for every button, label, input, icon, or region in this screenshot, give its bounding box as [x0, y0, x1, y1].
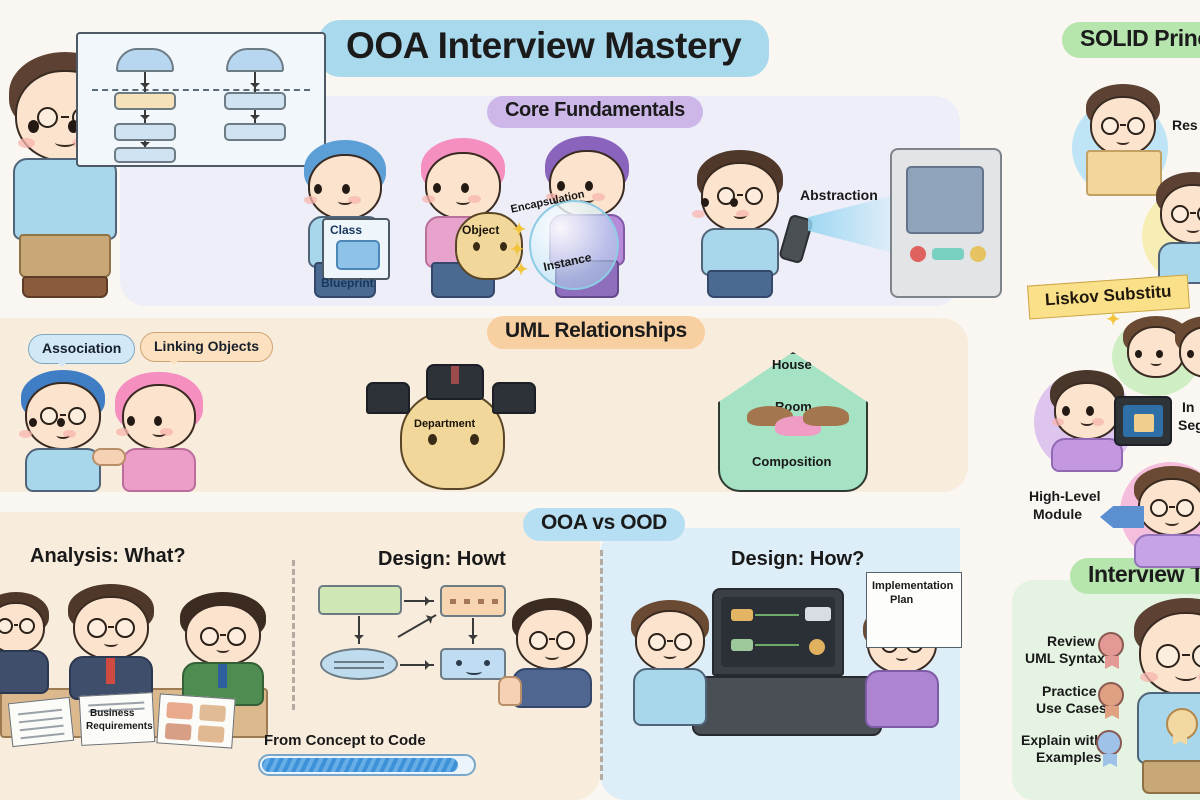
ribbon-badge-icon: [1098, 632, 1124, 658]
mouth: [55, 138, 75, 147]
eye: [57, 418, 65, 427]
eye: [500, 242, 507, 251]
eye: [428, 434, 437, 445]
glasses-icon: [61, 116, 69, 118]
flow-arrow: [400, 664, 434, 666]
diagram-node: [226, 48, 284, 72]
implementation-plan-line1: Implementation: [872, 580, 953, 592]
eye: [1187, 350, 1194, 358]
eye: [470, 434, 479, 445]
glasses-icon: [220, 634, 226, 636]
liskov-character-2: [1170, 316, 1200, 386]
linking-objects-bubble: Linking Objects: [140, 332, 273, 362]
cheek: [1092, 418, 1104, 426]
business-requirements-line2: Requirements: [86, 721, 153, 732]
glasses-icon: [1190, 212, 1196, 214]
eye: [314, 184, 322, 194]
flow-node-process: [318, 585, 402, 615]
eye: [29, 418, 37, 427]
doc-line: [20, 725, 64, 732]
progress-fill: [262, 758, 458, 772]
cheek: [1140, 672, 1158, 682]
chest-award-badge-icon: [1166, 708, 1198, 740]
eye: [127, 416, 135, 426]
cheek: [692, 210, 705, 218]
section-divider: [292, 560, 295, 710]
tip-3-line2: Examples: [1036, 750, 1101, 766]
house-child-head: [806, 414, 846, 452]
business-requirements-line1: Business: [90, 708, 134, 719]
shirt: [122, 448, 196, 492]
single-responsibility-label: Res: [1172, 118, 1198, 134]
eye: [730, 198, 738, 207]
shoes: [22, 276, 108, 298]
eye: [1156, 350, 1163, 358]
department-label: Department: [414, 418, 475, 430]
abstraction-label: Abstraction: [800, 188, 878, 204]
tip-2-line2: Use Cases: [1036, 701, 1107, 717]
ribbon-badge-icon: [1098, 682, 1124, 708]
doc-line: [20, 733, 64, 740]
interface-segregation-line1: In: [1182, 400, 1194, 416]
mouth: [338, 198, 352, 205]
association-character-left: [8, 370, 118, 500]
cheek: [422, 195, 435, 203]
glasses-icon: [108, 626, 114, 628]
class-label: Class: [330, 224, 362, 237]
tip-3-line1: Explain with: [1021, 733, 1103, 749]
ooa-vs-ood-title: OOA vs OOD: [523, 508, 685, 541]
page-title: OOA Interview Mastery: [318, 20, 769, 77]
eye: [557, 181, 565, 191]
design-howt-heading: Design: Howt: [378, 548, 506, 570]
shirt: [1051, 438, 1123, 472]
object-label: Object: [462, 224, 499, 237]
flow-arrow: [358, 616, 360, 644]
glasses-icon: [737, 194, 743, 196]
glasses-icon: [1182, 654, 1190, 656]
tip-1-line1: Review: [1047, 634, 1095, 650]
cheek: [1052, 418, 1064, 426]
association-character-right: [104, 372, 214, 502]
shirt: [13, 158, 117, 240]
mouth: [896, 654, 908, 661]
diagram-connector: [254, 72, 256, 92]
eye: [473, 242, 480, 251]
glasses-icon: [14, 624, 18, 626]
diagram-node: [116, 48, 174, 72]
sparkle-icon: ✦: [1106, 310, 1120, 330]
infographic-canvas: OOA Interview Mastery Core Fundamentals …: [0, 0, 1200, 800]
suited-figure-left: [356, 360, 418, 416]
open-closed-character: [1148, 172, 1200, 284]
dependency-arrow-icon: [1100, 506, 1144, 528]
eye: [1062, 406, 1070, 416]
mouth: [1081, 418, 1094, 426]
high-level-module-line1: High-Level: [1029, 489, 1101, 505]
solid-principles-title: SOLID Princi: [1062, 22, 1200, 58]
suited-figure-right: [482, 360, 544, 416]
ribbon-badge-icon: [1096, 730, 1122, 756]
interface-segregation-line2: Seg: [1178, 418, 1200, 434]
pants: [707, 270, 773, 298]
shirt: [1134, 534, 1200, 568]
flow-arrow: [404, 600, 434, 602]
glasses-icon: [667, 640, 673, 642]
uml-class-diagram-board: [76, 32, 326, 167]
analysis-heading: Analysis: What?: [30, 545, 186, 567]
head: [462, 360, 502, 396]
mouth: [456, 198, 470, 205]
sparkle-icon: ✦: [510, 240, 524, 260]
cheek: [19, 430, 32, 438]
glasses-icon: [549, 638, 555, 640]
diagram-node: [224, 92, 286, 110]
diagram-connector: [144, 110, 146, 124]
high-level-module-line2: Module: [1033, 507, 1082, 523]
eye: [433, 183, 441, 193]
flow-node-orange: [440, 585, 506, 617]
mouth: [734, 212, 747, 219]
glasses-icon: [1169, 506, 1175, 508]
shorts: [19, 234, 111, 278]
diagram-node: [224, 123, 286, 141]
diagram-connector: [254, 110, 256, 124]
uml-relationships-title: UML Relationships: [487, 316, 705, 349]
mouth: [1187, 226, 1200, 233]
cheek: [457, 214, 469, 221]
core-fundamentals-title: Core Fundamentals: [487, 96, 703, 128]
sparkle-icon: ✦: [512, 220, 526, 240]
glasses-icon: [1120, 124, 1126, 126]
association-bubble: Association: [28, 334, 135, 364]
diagram-node: [114, 147, 176, 163]
mouth: [104, 640, 118, 647]
concept-to-code-progress: [258, 754, 476, 776]
design-how-heading: Design: How?: [731, 548, 864, 570]
mouth: [57, 432, 70, 439]
mouth: [1165, 518, 1179, 526]
implementation-plan-line2: Plan: [890, 594, 913, 606]
doc-line: [18, 709, 62, 716]
flow-node-blue: [440, 648, 506, 680]
shirt: [701, 228, 779, 276]
progress-label: From Concept to Code: [264, 733, 426, 750]
mouth: [1117, 138, 1130, 145]
tv-machine: [890, 148, 1002, 298]
interview-tips-character: [1126, 598, 1200, 798]
shirt: [633, 668, 707, 726]
sparkle-icon: ✦: [514, 260, 528, 280]
eye: [461, 183, 469, 193]
head: [73, 596, 149, 660]
instance-bubble: [529, 200, 619, 290]
head: [336, 360, 376, 396]
flow-node-data: [320, 648, 398, 680]
flow-arrow: [472, 618, 474, 644]
laptop-display: [721, 597, 835, 667]
sticky-notes-sheet: [156, 693, 235, 748]
diagram-connector: [144, 72, 146, 92]
head: [701, 162, 779, 232]
mouth: [545, 652, 559, 660]
cheek: [116, 428, 129, 436]
abstraction-character: [680, 150, 800, 300]
thumbs-up-icon: [498, 676, 522, 706]
doc-line: [19, 717, 63, 724]
eye: [1135, 350, 1142, 358]
mouth: [1175, 670, 1197, 681]
mouth: [1151, 360, 1162, 366]
eye: [1086, 406, 1094, 416]
eye: [154, 416, 162, 426]
suit: [0, 650, 49, 694]
mouth: [153, 430, 166, 437]
cheek: [304, 196, 317, 204]
analyst-character-1: [0, 592, 56, 692]
shorts: [1142, 760, 1200, 794]
eye: [28, 120, 39, 133]
laptop-screen-frame: [712, 588, 844, 676]
analyst-character-2: [56, 584, 166, 694]
shirt: [865, 670, 939, 728]
diagram-node: [114, 92, 176, 110]
suit: [512, 668, 592, 708]
handshake: [92, 448, 126, 466]
head: [25, 382, 101, 450]
cheek: [18, 138, 35, 148]
diagram-node: [114, 123, 176, 141]
head: [1090, 96, 1156, 156]
eye: [585, 181, 593, 191]
plain-document: [8, 697, 74, 747]
mouth: [664, 652, 677, 659]
house-label: House: [772, 358, 812, 373]
interface-tablet: [1114, 396, 1172, 446]
eye: [701, 198, 709, 207]
blueprint-shape: [336, 240, 380, 270]
analyst-character-3: [168, 592, 278, 698]
tip-2-line1: Practice: [1042, 684, 1096, 700]
blueprint-label: Blueprint: [321, 277, 374, 290]
designer-character-left: [620, 600, 720, 730]
eye: [342, 184, 350, 194]
shirt: [25, 448, 101, 492]
mouth: [217, 646, 230, 653]
glasses-icon: [60, 414, 66, 416]
doc-line: [88, 702, 144, 707]
tip-1-line2: UML Syntax: [1025, 651, 1105, 667]
